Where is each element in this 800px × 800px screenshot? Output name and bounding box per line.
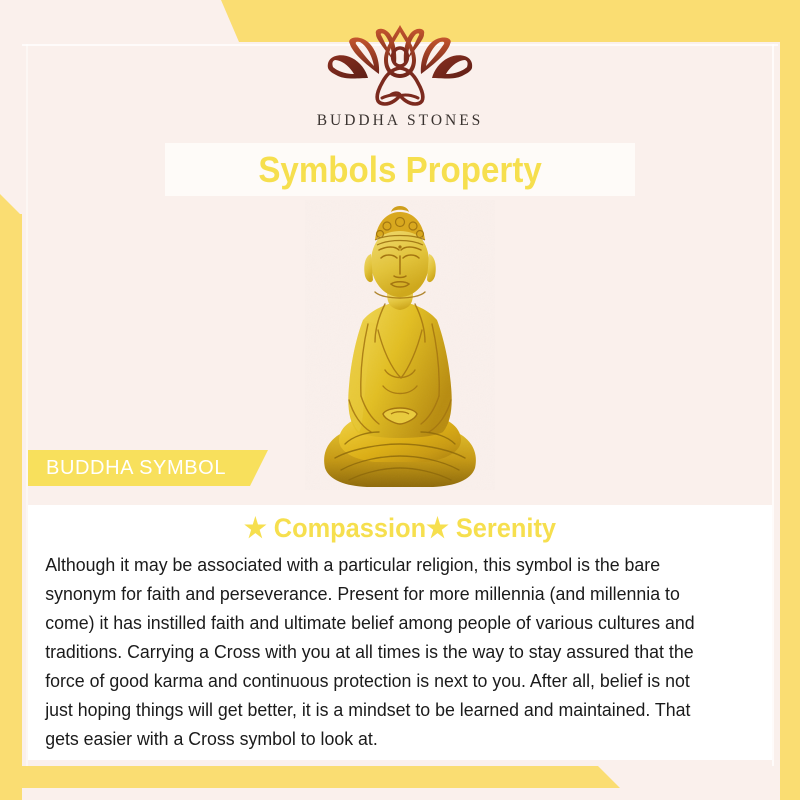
content-paragraph: Although it may be associated with a par… [28, 544, 739, 753]
logo-figure-lap [382, 95, 418, 98]
buddha-texture-overlay [305, 200, 495, 490]
brand-name: BUDDHA STONES [317, 112, 484, 130]
seated-buddha-statue [305, 200, 495, 490]
buddha-statue-image [305, 200, 495, 490]
content-card: ★ Compassion★ Serenity Although it may b… [28, 505, 772, 760]
page-content: BUDDHA STONES Symbols Property [0, 0, 800, 800]
brand-logo: BUDDHA STONES [0, 22, 800, 130]
buddha-body-group [305, 200, 495, 490]
page-title: Symbols Property [258, 149, 541, 191]
buddha-symbol-tag: BUDDHA SYMBOL [28, 450, 244, 486]
content-subtitle: ★ Compassion★ Serenity [50, 505, 749, 544]
tag-label: BUDDHA SYMBOL [28, 450, 244, 486]
title-banner: Symbols Property [165, 143, 635, 196]
lotus-meditation-icon [316, 22, 484, 108]
